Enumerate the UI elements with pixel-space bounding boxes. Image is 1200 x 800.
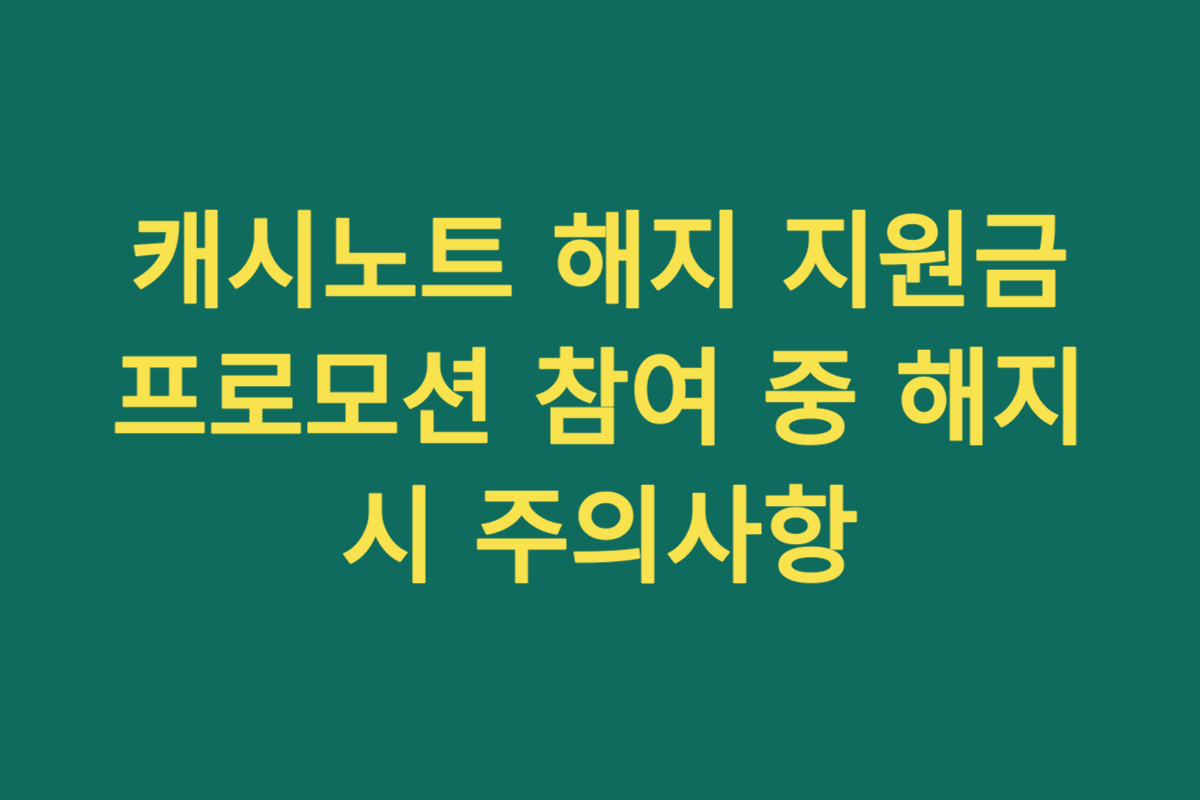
- thumbnail-canvas: 캐시노트 해지 지원금 프로모션 참여 중 해지 시 주의사항: [0, 0, 1200, 800]
- title-block: 캐시노트 해지 지원금 프로모션 참여 중 해지 시 주의사항: [70, 194, 1130, 606]
- headline-text: 캐시노트 해지 지원금 프로모션 참여 중 해지 시 주의사항: [80, 194, 1120, 606]
